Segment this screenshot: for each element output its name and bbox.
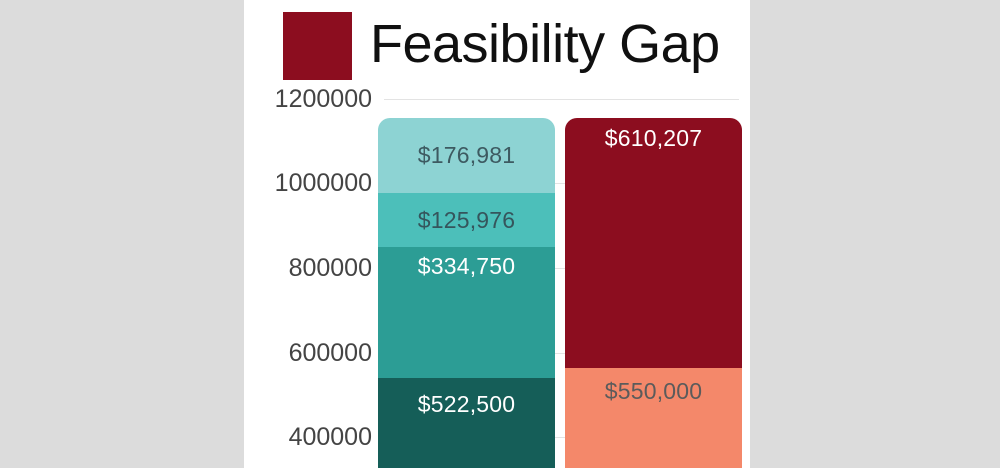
bar-segment-label: $125,976 (418, 207, 516, 234)
bar-segment-label: $610,207 (605, 125, 703, 152)
bar-segment-610207[interactable]: $610,207 (565, 118, 742, 368)
gridline-1200000 (384, 99, 739, 100)
bar-segment-label: $550,000 (605, 378, 703, 405)
bar-segment-550000[interactable]: $550,000 (565, 368, 742, 468)
y-axis-tick-800000: 800000 (244, 255, 372, 281)
chart-header: Feasibility Gap (244, 0, 750, 88)
chart-title: Feasibility Gap (370, 8, 720, 80)
bar-segment-522500[interactable]: $522,500 (378, 378, 555, 468)
bar-segment-176981[interactable]: $176,981 (378, 118, 555, 193)
bar-segment-label: $176,981 (418, 142, 516, 169)
chart-panel: 1200000 1000000 800000 600000 400000 $17… (244, 0, 750, 468)
bar-segment-label: $522,500 (418, 391, 516, 418)
y-axis-tick-1200000: 1200000 (244, 86, 372, 112)
y-axis-tick-1000000: 1000000 (244, 170, 372, 196)
y-axis-tick-400000: 400000 (244, 424, 372, 450)
bar-segment-label: $334,750 (418, 253, 516, 280)
y-axis-tick-600000: 600000 (244, 340, 372, 366)
screenshot-root: 1200000 1000000 800000 600000 400000 $17… (0, 0, 1000, 468)
bar-segment-125976[interactable]: $125,976 (378, 193, 555, 247)
bar-segment-334750[interactable]: $334,750 (378, 247, 555, 378)
legend-color-swatch-icon[interactable] (283, 12, 352, 80)
